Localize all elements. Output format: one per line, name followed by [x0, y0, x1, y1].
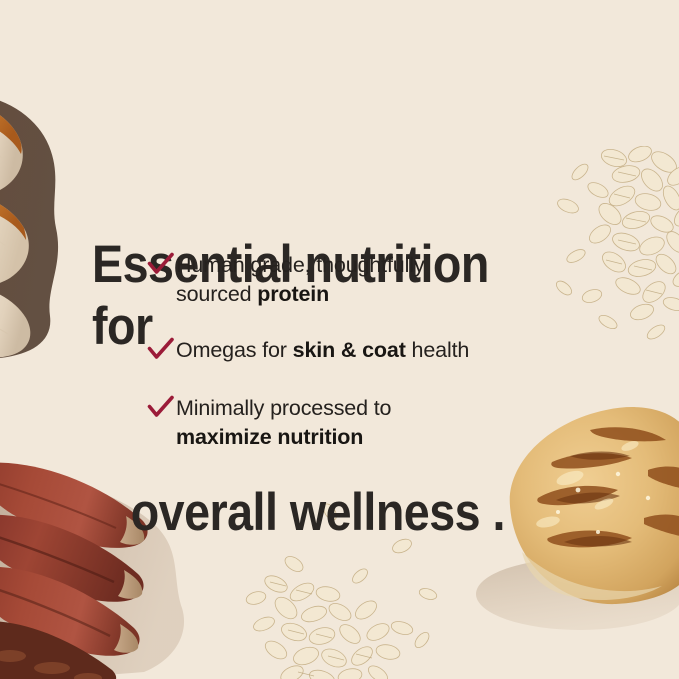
benefits-list: Human grade, thoughtfully sourced protei…	[146, 250, 566, 452]
rolled-oats-pile-image	[556, 146, 679, 346]
list-item: Minimally processed to maximize nutritio…	[146, 393, 566, 452]
list-item-text: Omegas for skin & coat health	[176, 335, 469, 365]
bullet-1-bold: protein	[257, 282, 329, 306]
bullet-1-line-2: sourced protein	[176, 280, 424, 309]
check-icon	[146, 336, 176, 363]
bullet-3-line-1: Minimally processed to	[176, 394, 391, 423]
bullet-3-line-2: maximize nutrition	[176, 423, 391, 452]
list-item-text: Minimally processed to maximize nutritio…	[176, 393, 391, 452]
bullet-2-plain: Omegas for	[176, 338, 293, 362]
bullet-2-bold: skin & coat	[293, 338, 406, 362]
bullet-2-line-1: Omegas for skin & coat health	[176, 336, 469, 365]
sliced-roast-white-meat-image	[0, 88, 90, 360]
check-icon	[146, 394, 176, 421]
list-item: Human grade, thoughtfully sourced protei…	[146, 250, 566, 309]
check-icon	[146, 251, 176, 278]
headline-line-2: overall wellness .	[92, 482, 558, 544]
list-item: Omegas for skin & coat health	[146, 335, 566, 365]
bullet-2-tail: health	[406, 338, 470, 362]
bullet-1-line-1: Human grade, thoughtfully	[176, 251, 424, 280]
bullet-1-plain: sourced	[176, 282, 257, 306]
list-item-text: Human grade, thoughtfully sourced protei…	[176, 250, 424, 309]
promo-banner: Essential nutrition for overall wellness…	[0, 0, 679, 679]
